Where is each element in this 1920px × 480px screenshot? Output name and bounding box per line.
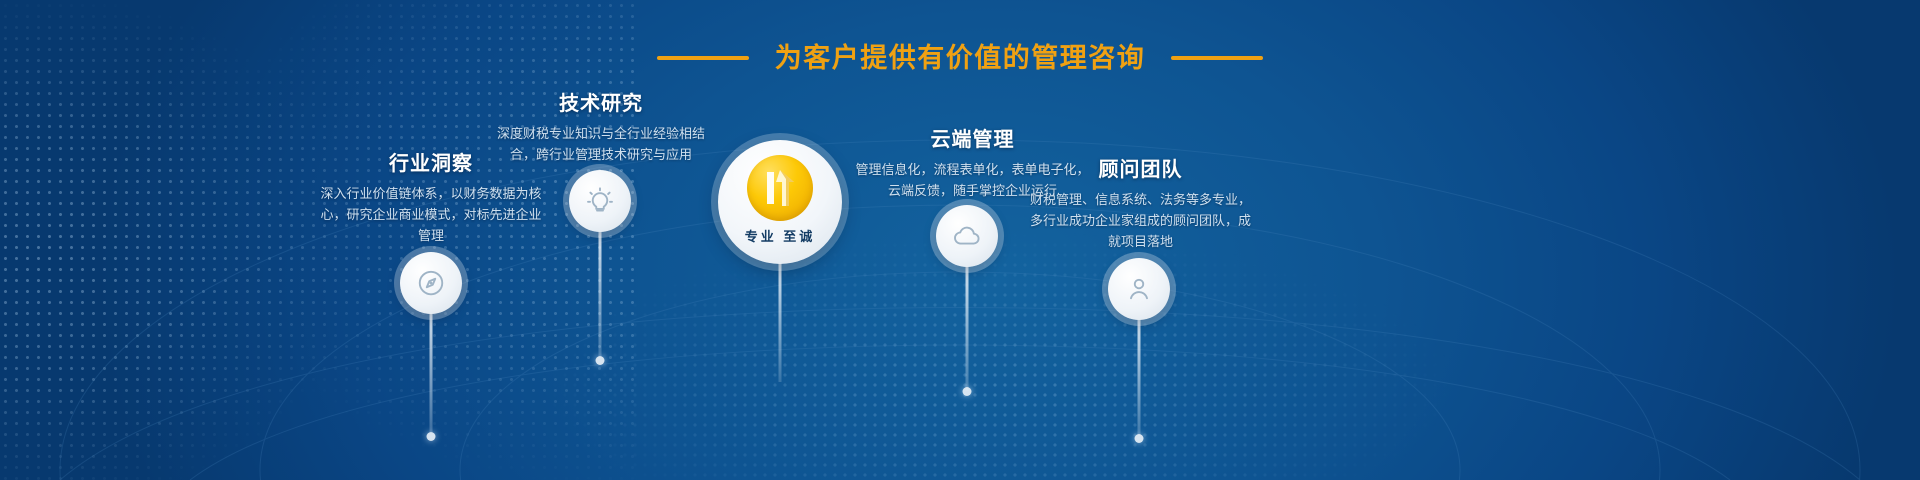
- marker-stem: [430, 310, 433, 432]
- marker-bubble[interactable]: [1108, 258, 1170, 320]
- marker-bubble[interactable]: [400, 252, 462, 314]
- card-description: 财税管理、信息系统、法务等多专业，多行业成功企业家组成的顾问团队，成就项目落地: [1028, 189, 1253, 252]
- logo-disc: 专业 至诚: [718, 140, 842, 264]
- page-title: 为客户提供有价值的管理咨询: [775, 45, 1146, 72]
- center-logo[interactable]: 专业 至诚: [718, 140, 842, 264]
- marker-stem: [599, 228, 602, 356]
- marker-consultant-team[interactable]: [1108, 258, 1170, 320]
- logo-stem: [779, 262, 782, 382]
- arrow-up-mark-icon: [760, 167, 800, 209]
- card-description: 深度财税专业知识与全行业经验相结合，跨行业管理技术研究与应用: [490, 123, 712, 165]
- marker-bubble[interactable]: [569, 170, 631, 232]
- banner-title-row: 为客户提供有价值的管理咨询: [0, 40, 1920, 76]
- marker-bubble[interactable]: [936, 205, 998, 267]
- card-title: 顾问团队: [1028, 158, 1253, 182]
- lightbulb-icon: [585, 186, 615, 216]
- marker-stem: [966, 263, 969, 391]
- marker-technology-research[interactable]: [569, 170, 631, 232]
- marker-endpoint-dot: [963, 387, 972, 396]
- user-person-icon: [1124, 274, 1154, 304]
- card-title: 技术研究: [490, 92, 712, 116]
- marker-cloud-management[interactable]: [936, 205, 998, 267]
- title-rule-right: [1171, 56, 1263, 60]
- marker-endpoint-dot: [596, 356, 605, 365]
- compass-icon: [416, 268, 446, 298]
- card-text-technology-research: 技术研究 深度财税专业知识与全行业经验相结合，跨行业管理技术研究与应用: [490, 92, 712, 165]
- logo-slogan: 专业 至诚: [745, 226, 816, 245]
- title-rule-left: [657, 56, 749, 60]
- logo-coin: [747, 155, 813, 221]
- cloud-icon: [952, 221, 982, 251]
- marker-endpoint-dot: [1135, 434, 1144, 443]
- marker-endpoint-dot: [427, 432, 436, 441]
- marker-stem: [1138, 316, 1141, 436]
- card-title: 云端管理: [855, 128, 1090, 152]
- card-description: 深入行业价值链体系，以财务数据为核心，研究企业商业模式，对标先进企业管理: [320, 183, 542, 246]
- banner-hero: 为客户提供有价值的管理咨询 行业洞察 深入行业价值链体系，以财务数据为核心，研究…: [0, 0, 1920, 480]
- card-text-consultant-team: 顾问团队 财税管理、信息系统、法务等多专业，多行业成功企业家组成的顾问团队，成就…: [1028, 158, 1253, 252]
- card-text-industry-insight: 行业洞察 深入行业价值链体系，以财务数据为核心，研究企业商业模式，对标先进企业管…: [320, 152, 542, 246]
- marker-industry-insight[interactable]: [400, 252, 462, 314]
